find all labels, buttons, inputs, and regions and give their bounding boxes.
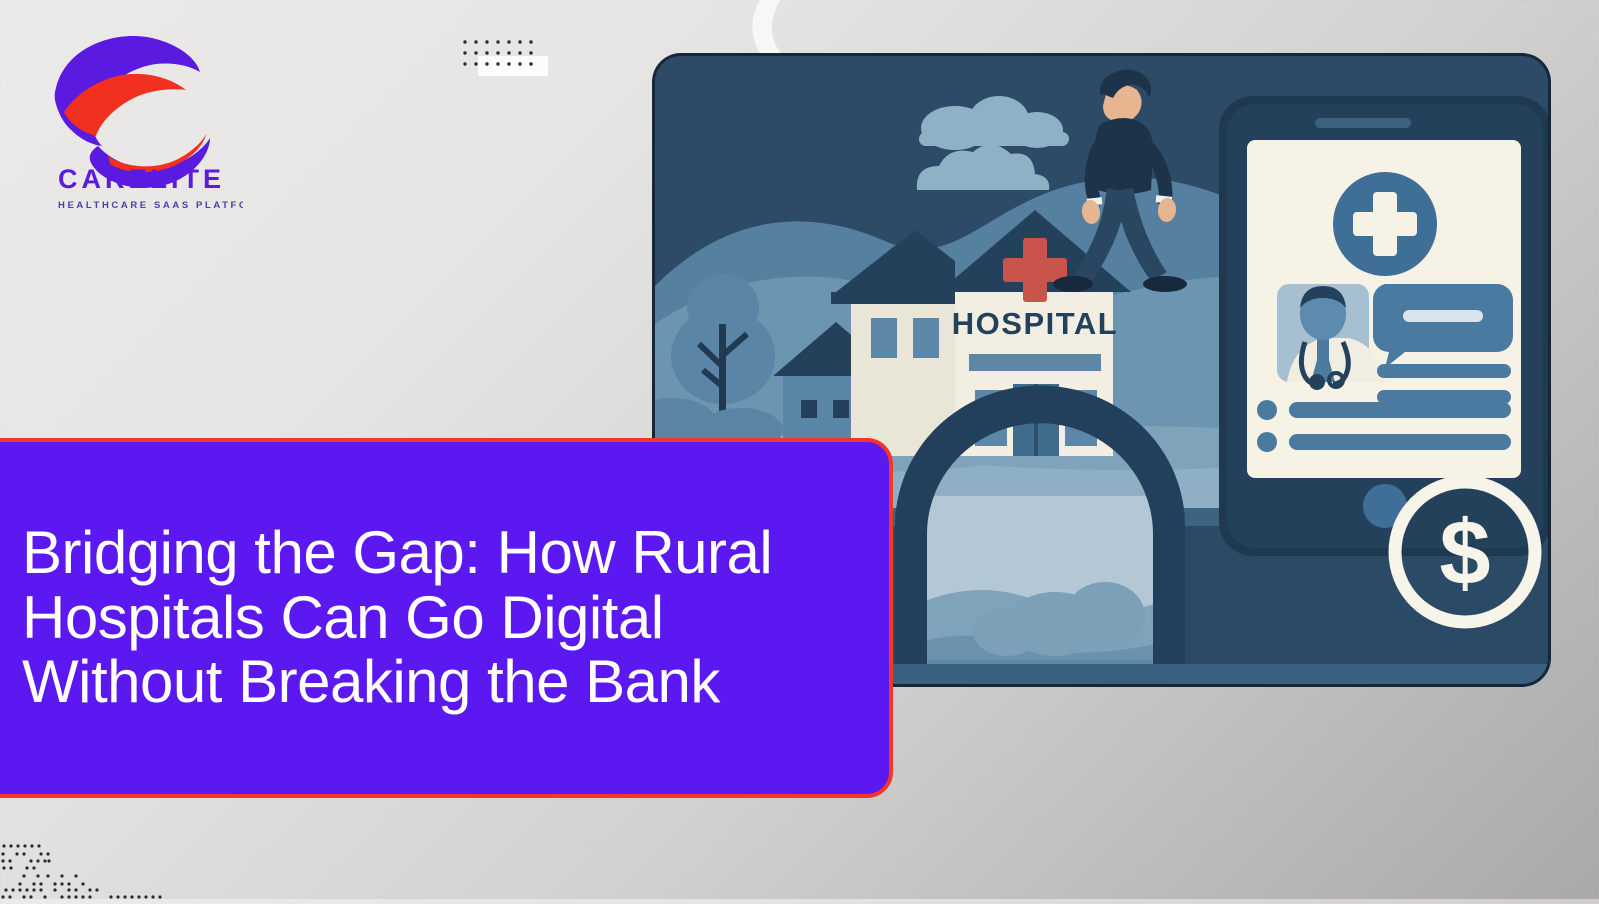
medical-cross-circle-icon [1333, 172, 1437, 276]
svg-text:$: $ [1439, 502, 1490, 604]
hospital-sign-label: HOSPITAL [952, 306, 1118, 341]
bottom-dot-scatter-decoration [0, 840, 200, 899]
top-dot-grid-decoration [462, 38, 534, 72]
speaker-grill [1315, 118, 1411, 128]
page-title: Bridging the Gap: How Rural Hospitals Ca… [0, 521, 889, 715]
dot-grid-icon [462, 38, 552, 78]
banner-stage: CARELITE HEALTHCARE SAAS PLATFORM [0, 0, 1599, 899]
headline-panel: Bridging the Gap: How Rural Hospitals Ca… [0, 438, 893, 798]
logo-tagline: HEALTHCARE SAAS PLATFORM [58, 200, 243, 211]
scattered-dots-icon [0, 840, 200, 899]
bridge-arch-view [895, 496, 1185, 684]
doctor-avatar [1277, 284, 1385, 390]
carelite-logo: CARELITE HEALTHCARE SAAS PLATFORM [28, 28, 243, 213]
logo-wordmark: CARELITE [58, 164, 225, 194]
